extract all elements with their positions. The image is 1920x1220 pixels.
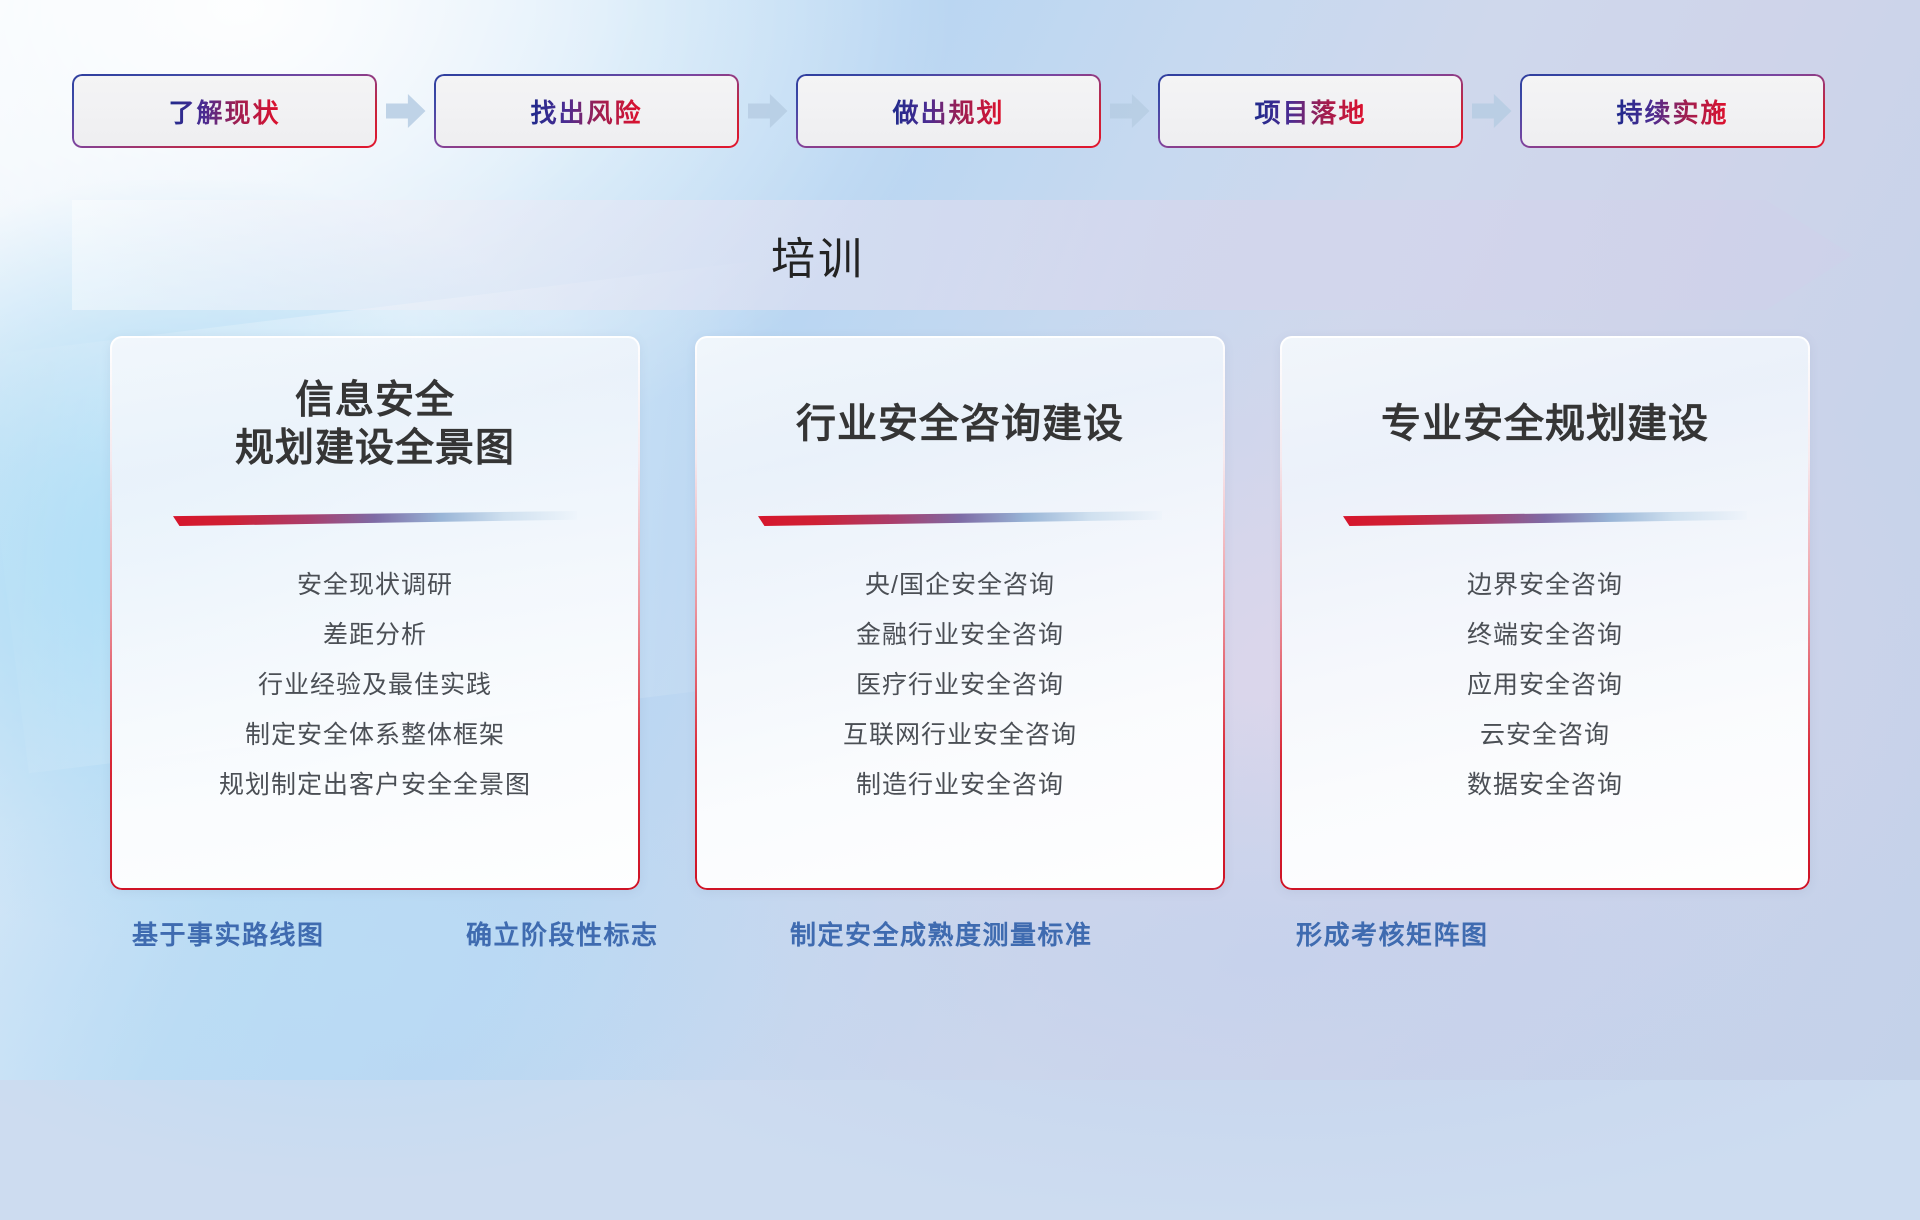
bottom-labels-row: 基于事实路线图 确立阶段性标志 制定安全成熟度测量标准 形成考核矩阵图 bbox=[0, 915, 1920, 973]
bottom-label-1: 基于事实路线图 bbox=[132, 915, 325, 952]
step-box-2[interactable]: 找出风险 bbox=[434, 74, 739, 148]
list-item: 边界安全咨询 bbox=[1467, 560, 1623, 610]
bottom-label-3: 制定安全成熟度测量标准 bbox=[790, 915, 1093, 952]
bottom-label-2: 确立阶段性标志 bbox=[466, 915, 659, 952]
card-title-line: 专业安全规划建设 bbox=[1381, 400, 1709, 449]
step-box-3[interactable]: 做出规划 bbox=[796, 74, 1101, 148]
card-title: 行业安全咨询建设 bbox=[695, 336, 1225, 511]
step-arrow-icon-3 bbox=[1101, 72, 1158, 150]
list-item: 终端安全咨询 bbox=[1467, 610, 1623, 660]
list-item: 金融行业安全咨询 bbox=[856, 610, 1064, 660]
list-item: 应用安全咨询 bbox=[1467, 660, 1623, 710]
step-label: 做出规划 bbox=[892, 93, 1004, 130]
process-steps-row: 了解现状 找出风险 做出规划 项目落地 持续实施 bbox=[72, 72, 1848, 150]
step-label: 项目落地 bbox=[1254, 93, 1366, 130]
list-item: 制定安全体系整体框架 bbox=[245, 710, 505, 760]
training-banner-title: 培训 bbox=[0, 200, 1636, 310]
cards-row: 信息安全 规划建设全景图 安全现状调研 差距分析 行业经验及最佳实践 制定安全体… bbox=[110, 336, 1810, 890]
list-item: 数据安全咨询 bbox=[1467, 760, 1623, 810]
card-item-list: 安全现状调研 差距分析 行业经验及最佳实践 制定安全体系整体框架 规划制定出客户… bbox=[110, 560, 640, 810]
card-divider bbox=[758, 511, 1162, 526]
card-title: 专业安全规划建设 bbox=[1280, 336, 1810, 511]
step-arrow-icon-1 bbox=[377, 72, 434, 150]
step-box-5[interactable]: 持续实施 bbox=[1520, 74, 1825, 148]
card-title-line: 信息安全 bbox=[295, 379, 455, 422]
step-label: 找出风险 bbox=[530, 93, 642, 130]
list-item: 制造行业安全咨询 bbox=[856, 760, 1064, 810]
card-item-list: 央/国企安全咨询 金融行业安全咨询 医疗行业安全咨询 互联网行业安全咨询 制造行… bbox=[695, 560, 1225, 810]
step-box-1[interactable]: 了解现状 bbox=[72, 74, 377, 148]
list-item: 安全现状调研 bbox=[297, 560, 453, 610]
step-label: 了解现状 bbox=[168, 93, 280, 130]
list-item: 云安全咨询 bbox=[1480, 710, 1610, 760]
card-title: 信息安全 规划建设全景图 bbox=[110, 336, 640, 511]
card-professional-security-planning[interactable]: 专业安全规划建设 边界安全咨询 终端安全咨询 应用安全咨询 云安全咨询 数据安全… bbox=[1280, 336, 1810, 890]
card-info-security-blueprint[interactable]: 信息安全 规划建设全景图 安全现状调研 差距分析 行业经验及最佳实践 制定安全体… bbox=[110, 336, 640, 890]
step-arrow-icon-4 bbox=[1463, 72, 1520, 150]
list-item: 医疗行业安全咨询 bbox=[856, 660, 1064, 710]
card-industry-security-consulting[interactable]: 行业安全咨询建设 央/国企安全咨询 金融行业安全咨询 医疗行业安全咨询 互联网行… bbox=[695, 336, 1225, 890]
step-box-4[interactable]: 项目落地 bbox=[1158, 74, 1463, 148]
card-item-list: 边界安全咨询 终端安全咨询 应用安全咨询 云安全咨询 数据安全咨询 bbox=[1280, 560, 1810, 810]
step-label: 持续实施 bbox=[1616, 93, 1728, 130]
card-divider bbox=[173, 511, 577, 526]
card-title-line: 规划建设全景图 bbox=[235, 427, 515, 470]
card-title-line: 行业安全咨询建设 bbox=[796, 400, 1124, 449]
list-item: 差距分析 bbox=[323, 610, 427, 660]
list-item: 规划制定出客户安全全景图 bbox=[219, 760, 531, 810]
card-divider bbox=[1343, 511, 1747, 526]
list-item: 互联网行业安全咨询 bbox=[843, 710, 1077, 760]
list-item: 行业经验及最佳实践 bbox=[258, 660, 492, 710]
step-arrow-icon-2 bbox=[739, 72, 796, 150]
bottom-label-4: 形成考核矩阵图 bbox=[1296, 915, 1489, 952]
list-item: 央/国企安全咨询 bbox=[865, 560, 1055, 610]
